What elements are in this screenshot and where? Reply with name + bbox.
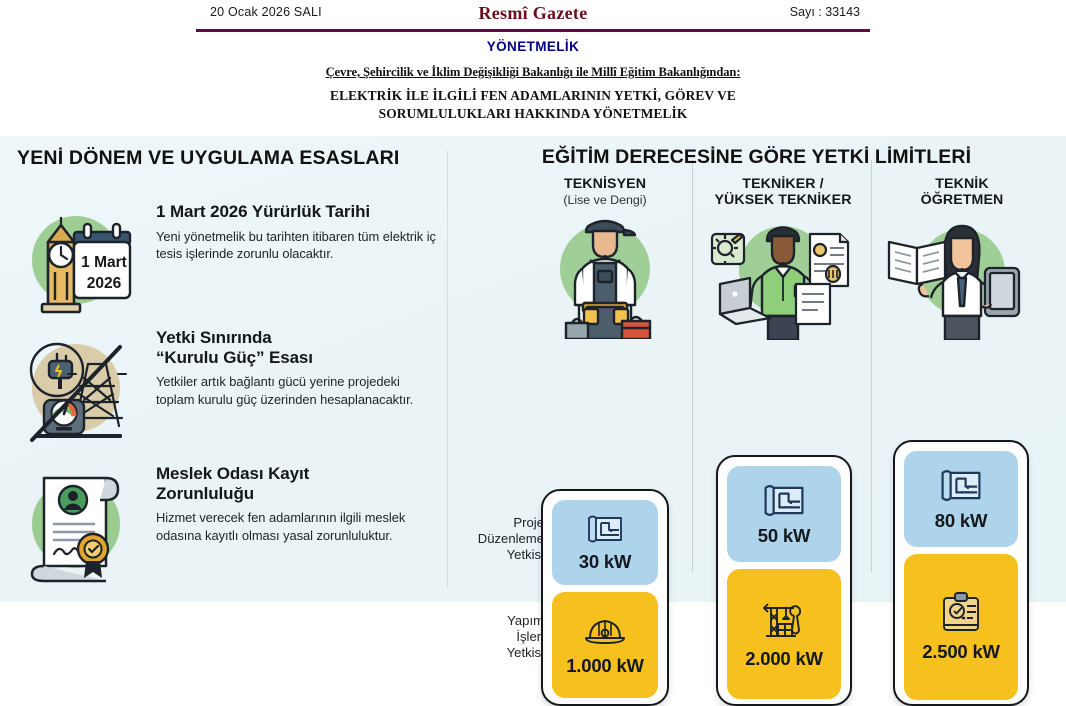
feature-title-line2: Zorunluluğu (156, 484, 254, 503)
work-limit-value: 1.000 kW (566, 655, 644, 677)
right-panel-heading: EĞİTİM DERECESİNE GÖRE YETKİ LİMİTLERİ (447, 146, 1066, 169)
power-plug-pylon-meter-icon (14, 328, 142, 450)
project-limit-value: 30 kW (579, 551, 631, 573)
clock-tower-calendar-icon: 1 Mart 2026 (14, 198, 142, 320)
work-limit-value: 2.500 kW (922, 641, 1000, 663)
grade-column-teknisyen: TEKNİSYEN (Lise ve Dengi) (520, 176, 690, 339)
clipboard-check-icon (936, 591, 986, 640)
regulation-title-line2: SORUMLULUKLARI HAKKINDA YÖNETMELİK (0, 106, 1066, 122)
calendar-badge-line1: 1 Mart (81, 254, 127, 271)
feature-title: Meslek Odası Kayıt Zorunluluğu (156, 464, 438, 503)
row-label-line3: Yetkisi (507, 645, 544, 660)
gazette-issue-number: Sayı : 33143 (790, 5, 860, 19)
gazette-rule-divider (196, 29, 870, 32)
project-limit-value: 80 kW (935, 510, 987, 532)
document-kind-label: YÖNETMELİK (0, 39, 1066, 54)
grade-column-teknik-ogretmen: TEKNİK ÖĞRETMEN (877, 176, 1047, 340)
limits-card-tekniker: 50 kW 2.000 kW (716, 455, 852, 706)
column-title-line2: ÖĞRETMEN (921, 192, 1004, 208)
column-title-line2: YÜKSEK TEKNİKER (714, 192, 851, 208)
row-label-line2: Düzenleme (478, 531, 544, 546)
hard-hat-icon (583, 613, 627, 654)
blueprint-icon (585, 513, 625, 550)
limits-card-teknik-ogretmen: 80 kW 2.500 kW (893, 440, 1029, 706)
feature-title-line1: Yetki Sınırında (156, 328, 272, 347)
infographic-board: YENİ DÖNEM VE UYGULAMA ESASLARI (0, 136, 1066, 602)
feature-title-line2: “Kurulu Güç” Esası (156, 348, 313, 367)
feature-body: Meslek Odası Kayıt Zorunluluğu Hizmet ve… (156, 464, 438, 544)
feature-description: Hizmet verecek fen adamlarının ilgili me… (156, 509, 438, 544)
work-limit-tile: 2.000 kW (727, 569, 841, 699)
work-limit-tile: 1.000 kW (552, 592, 658, 698)
technician-with-laptop-documents-icon (698, 212, 868, 340)
grade-column-tekniker: TEKNİKER / YÜKSEK TEKNİKER (698, 176, 868, 340)
project-limit-tile: 30 kW (552, 500, 658, 585)
column-subtitle: (Lise ve Dengi) (520, 193, 690, 207)
feature-body: 1 Mart 2026 Yürürlük Tarihi Yeni yönetme… (156, 202, 438, 262)
calendar-badge-line2: 2026 (87, 275, 122, 292)
limits-card-teknisyen: 30 kW 1.000 kW (541, 489, 669, 706)
issuing-authority: Çevre, Şehircilik ve İklim Değişikliği B… (0, 65, 1066, 80)
row-label-line1: Proje (513, 515, 544, 530)
blueprint-icon (938, 467, 984, 509)
certificate-scroll-seal-icon (14, 462, 142, 584)
column-title: TEKNİK ÖĞRETMEN (877, 176, 1047, 208)
row-label-proje-duzenleme: Proje Düzenleme Yetkisi (436, 515, 544, 563)
feature-title: Yetki Sınırında “Kurulu Güç” Esası (156, 328, 438, 367)
feature-description: Yetkiler artık bağlantı gücü yerine proj… (156, 373, 438, 408)
feature-body: Yetki Sınırında “Kurulu Güç” Esası Yetki… (156, 328, 438, 408)
feature-title-line1: Meslek Odası Kayıt (156, 464, 309, 483)
teacher-with-book-tablet-icon (877, 212, 1047, 340)
work-limit-tile: 2.500 kW (904, 554, 1018, 700)
row-label-line3: Yetkisi (507, 547, 544, 562)
project-limit-tile: 50 kW (727, 466, 841, 562)
project-limit-tile: 80 kW (904, 451, 1018, 547)
left-panel-heading: YENİ DÖNEM VE UYGULAMA ESASLARI (17, 147, 400, 170)
blueprint-icon (761, 482, 807, 524)
column-divider-2 (871, 160, 872, 572)
project-limit-value: 50 kW (758, 525, 810, 547)
column-title-line1: TEKNİKER / (742, 176, 823, 192)
column-title: TEKNİKER / YÜKSEK TEKNİKER (698, 176, 868, 208)
feature-title: 1 Mart 2026 Yürürlük Tarihi (156, 202, 438, 222)
regulation-title-line1: ELEKTRİK İLE İLGİLİ FEN ADAMLARININ YETK… (0, 88, 1066, 104)
column-title-line1: TEKNİK (935, 176, 988, 192)
column-divider-1 (692, 160, 693, 572)
gazette-title: Resmî Gazete (196, 3, 870, 24)
gazette-masthead-row: 20 Ocak 2026 SALI Resmî Gazete Sayı : 33… (196, 5, 870, 27)
row-label-line2: İşleri (516, 629, 544, 644)
row-label-yapim-isleri: Yapım İşleri Yetkisi (436, 613, 544, 661)
row-label-line1: Yapım (507, 613, 544, 628)
work-limit-value: 2.000 kW (745, 648, 823, 670)
feature-description: Yeni yönetmelik bu tarihten itibaren tüm… (156, 228, 438, 263)
technician-with-toolboxes-icon (520, 211, 690, 339)
column-title: TEKNİSYEN (520, 176, 690, 192)
gazette-header: 20 Ocak 2026 SALI Resmî Gazete Sayı : 33… (0, 0, 1066, 136)
crane-wrench-icon (758, 598, 810, 647)
